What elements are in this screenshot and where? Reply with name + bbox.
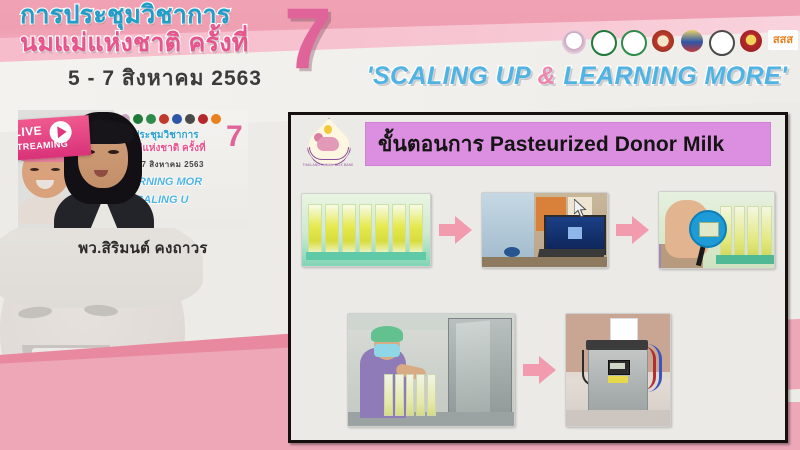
process-row-bottom <box>347 313 777 427</box>
photo2-screen-icon <box>568 227 582 239</box>
conference-date: 5 - 7 สิงหาคม 2563 <box>20 62 310 95</box>
photo2-desk <box>482 257 606 267</box>
slide-broadcast-screen: การประชุมวิชาการ นมแม่แห่งชาติ ครั้งที่ … <box>0 0 800 450</box>
right-arrow-icon <box>523 355 557 385</box>
photo3-bottles <box>720 206 772 258</box>
thaihealth-logo: สสส <box>768 30 798 62</box>
freezer-unit-photo <box>565 313 671 427</box>
edition-number: 7 <box>284 0 332 82</box>
speaker-name: พว.สิริมนต์ คงถาวร <box>28 236 258 260</box>
photo5-yellow-label <box>608 376 628 383</box>
conference-title-line1: การประชุมวิชาการ <box>20 2 310 28</box>
child-eye-left <box>30 168 39 171</box>
slide-header: THAILAND HUMAN MILK BANK ขั้นตอนการ Past… <box>291 115 785 171</box>
tagline-ampersand: & <box>538 62 556 90</box>
grey-seal-icon <box>709 30 735 56</box>
milk-droplet-dot <box>324 125 332 134</box>
red-crest-icon <box>740 30 762 52</box>
live-streaming-badge: LIVE STREAMING <box>18 115 91 161</box>
slide-title: ขั้นตอนการ Pasteurized Donor Milk <box>366 128 724 161</box>
bottle <box>747 206 759 258</box>
pip-logo-7 <box>198 114 208 124</box>
speaker-eye-right <box>108 150 119 154</box>
red-royal-seal-icon <box>652 30 674 52</box>
royal-emblem-logo <box>562 30 586 62</box>
photo1-bottle-rack <box>308 204 423 254</box>
organization-logo-strip: สสส <box>562 28 798 64</box>
bottle <box>359 204 373 254</box>
tagline-part1: 'SCALING UP <box>367 62 538 90</box>
grey-seal-logo <box>709 30 734 62</box>
green-health-logo <box>621 30 646 62</box>
milk-bottles-rack-photo <box>301 193 431 267</box>
red-crest-logo <box>739 30 763 62</box>
laptop-workstation-photo <box>481 192 607 268</box>
bottle <box>409 204 423 254</box>
photo3-timer-display <box>699 222 719 237</box>
pip-edition-number: 7 <box>226 122 243 152</box>
logo-caption: THAILAND HUMAN MILK BANK <box>298 163 358 167</box>
digital-timer-thermometer-photo <box>658 191 775 269</box>
bottle <box>342 204 356 254</box>
slide-title-box: ขั้นตอนการ Pasteurized Donor Milk <box>365 122 771 166</box>
bottle <box>734 206 746 258</box>
process-row-top <box>301 191 775 269</box>
photo5-unit-lid <box>586 340 648 350</box>
green-medical-logo <box>591 30 616 62</box>
photo4-surgical-cap <box>371 326 403 342</box>
multicolor-crest-logo <box>680 30 704 62</box>
bottle <box>392 204 406 254</box>
royal-emblem-icon <box>562 30 586 54</box>
conference-title-block: การประชุมวิชาการ นมแม่แห่งชาติ ครั้งที่ … <box>20 2 310 95</box>
mouse-pointer <box>574 199 588 219</box>
bottle <box>427 374 436 416</box>
presentation-slide-panel[interactable]: THAILAND HUMAN MILK BANK ขั้นตอนการ Past… <box>288 112 788 443</box>
bottle <box>325 204 339 254</box>
pip-logo-8 <box>211 114 221 124</box>
multicolor-crest-icon <box>681 30 703 52</box>
red-royal-seal-logo <box>651 30 675 62</box>
bottle <box>395 374 404 416</box>
photo1-pallet <box>306 252 426 260</box>
conference-tagline: 'SCALING UP & LEARNING MORE' <box>362 62 792 91</box>
photo3-blue-timer <box>689 210 727 248</box>
pip-logo-6 <box>185 114 195 124</box>
bottle <box>384 374 393 416</box>
thaihealth-icon: สสส <box>768 30 798 50</box>
bottle <box>375 204 389 254</box>
right-arrow-icon <box>616 215 650 245</box>
photo5-floor <box>566 410 670 426</box>
nurse-pasteurizer-photo <box>347 313 515 427</box>
photo4-steel-door <box>456 321 490 416</box>
bottle <box>761 206 773 258</box>
photo5-panel-display <box>610 363 625 369</box>
conference-title-line2: นมแม่แห่งชาติ ครั้งที่ <box>20 30 310 56</box>
human-milk-bank-logo: THAILAND HUMAN MILK BANK <box>297 117 359 171</box>
tagline-part2: LEARNING MORE' <box>556 62 787 90</box>
bottle <box>406 374 415 416</box>
photo4-bottles <box>384 376 436 416</box>
speaker-video-pip[interactable]: การประชุมวิชาการ นมแม่แห่งชาติ ครั้งที่ … <box>18 110 248 228</box>
right-arrow-icon <box>439 215 473 245</box>
live-label: LIVE <box>18 123 43 139</box>
pip-logo-4 <box>159 114 169 124</box>
green-health-icon <box>621 30 647 56</box>
photo4-face-mask <box>374 344 400 357</box>
pip-logo-5 <box>172 114 182 124</box>
bottle <box>416 374 425 416</box>
photo3-tray <box>716 255 774 264</box>
bottle <box>308 204 322 254</box>
green-medical-icon <box>591 30 617 56</box>
streaming-label: STREAMING <box>18 139 68 153</box>
